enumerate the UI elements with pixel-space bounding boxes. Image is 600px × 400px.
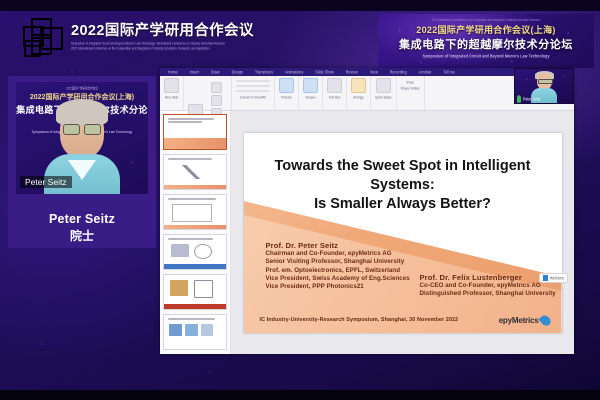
shared-screen-powerpoint[interactable]: Home Insert Draw Design Transitions Anim… xyxy=(160,68,574,354)
tab-recording[interactable]: Recording xyxy=(390,69,407,74)
author-right-line-2: Distinguished Professor, Shanghai Univer… xyxy=(420,290,556,298)
current-slide[interactable]: Towards the Sweet Spot in Intelligent Sy… xyxy=(244,133,562,333)
author-left-line-2: Senior Visiting Professor, Shanghai Univ… xyxy=(266,258,410,266)
ribbon-group-arrange[interactable]: Arrange xyxy=(347,76,371,110)
author-right-name: Prof. Dr. Felix Lustenberger xyxy=(420,273,556,282)
tab-view[interactable]: View xyxy=(370,69,378,74)
tab-insert[interactable]: Insert xyxy=(190,69,199,74)
tab-slide-show[interactable]: Slide Show xyxy=(315,69,333,74)
tab-tell-me[interactable]: Tell me xyxy=(443,69,455,74)
alignment-controls-row[interactable] xyxy=(236,90,270,92)
speaker-caption-name: Peter Seitz xyxy=(8,212,156,226)
text-box-icon[interactable] xyxy=(327,78,342,93)
slide-title: Towards the Sweet Spot in Intelligent Sy… xyxy=(244,157,562,214)
pip-eyeglasses-icon xyxy=(538,79,553,84)
ribbon-group-slides[interactable]: Layout xyxy=(184,76,232,110)
bottom-letterbox-bar xyxy=(0,390,600,400)
ribbon-label-quick-styles: Quick Styles xyxy=(375,94,392,99)
arrange-icon[interactable] xyxy=(351,78,366,93)
tab-design[interactable]: Design xyxy=(232,69,243,74)
slide-title-line-1: Towards the Sweet Spot in Intelligent Sy… xyxy=(256,157,550,195)
powerpoint-ribbon[interactable]: New Slide Layout Convert to SmartArt xyxy=(160,76,574,111)
tab-animations[interactable]: Animations xyxy=(285,69,303,74)
slide-thumbnail-5[interactable] xyxy=(163,274,227,310)
slide-editor-canvas[interactable]: Towards the Sweet Spot in Intelligent Sy… xyxy=(231,111,574,354)
slide-thumbnail-1[interactable] xyxy=(163,114,227,150)
author-left-line-1: Chairman and Co-Founder, epyMetrics AG xyxy=(266,250,410,258)
ribbon-group-shapes[interactable]: Shapes xyxy=(299,76,323,110)
ribbon-label-convert: Convert to SmartArt xyxy=(240,94,267,99)
author-left-name: Prof. Dr. Peter Seitz xyxy=(266,241,410,250)
slide-thumbnail-4[interactable] xyxy=(163,234,227,270)
tab-transitions[interactable]: Transitions xyxy=(255,69,273,74)
video-banner-tiny: 2022国际产学研用合作会议 xyxy=(16,85,148,90)
microphone-icon xyxy=(517,95,521,103)
tab-home[interactable]: Home xyxy=(168,69,178,74)
conference-title-en-1: Symposium of Integrated Circuit and Beyo… xyxy=(71,42,254,47)
pictures-icon[interactable] xyxy=(279,78,294,93)
ribbon-label-share[interactable]: Share xyxy=(406,79,414,84)
epymetrics-logo-text: epyMetrics xyxy=(499,316,539,325)
font-controls-row[interactable] xyxy=(236,80,270,82)
chat-notification-chip[interactable]: Welcome xyxy=(539,273,568,283)
ribbon-label-pictures: Pictures xyxy=(281,94,292,99)
ribbon-label-shape-outline[interactable]: Shape Outline xyxy=(401,85,420,90)
speaker-caption-title: 院士 xyxy=(8,227,156,244)
ribbon-group-pictures[interactable]: Pictures xyxy=(275,76,299,110)
author-left-line-4: Vice President, Swiss Academy of Eng.Sci… xyxy=(266,275,410,283)
slide-title-line-2: Is Smaller Always Better? xyxy=(256,195,550,214)
tab-draw[interactable]: Draw xyxy=(211,69,220,74)
author-left-line-3: Prof. em. Optoelectronics, EPFL, Switzer… xyxy=(266,267,410,275)
forum-banner: 2022 International Conference on the Coo… xyxy=(378,14,594,68)
overlapping-squares-logo-icon xyxy=(22,16,64,58)
chat-chip-label: Welcome xyxy=(550,275,564,280)
ribbon-label-shapes: Shapes xyxy=(305,94,315,99)
powerpoint-ribbon-tabs[interactable]: Home Insert Draw Design Transitions Anim… xyxy=(160,68,574,76)
banner-subtitle-en-top: 2022 International Conference on the Coo… xyxy=(378,19,594,23)
conference-logo-lockup: 2022国际产学研用合作会议 Symposium of Integrated C… xyxy=(22,16,254,58)
conference-stream-screenshot: 2022国际产学研用合作会议 Symposium of Integrated C… xyxy=(0,0,600,400)
layout-icon[interactable] xyxy=(211,82,222,93)
ribbon-label-arrange: Arrange xyxy=(353,94,364,99)
banner-line-2: 集成电路下的超越摩尔技术分论坛 xyxy=(378,36,594,52)
author-left-line-5: Vice President, PPP Photonics21 xyxy=(266,283,410,291)
eyeglasses-icon xyxy=(63,124,101,133)
ribbon-label-paste: New Slide xyxy=(165,94,179,99)
shapes-icon[interactable] xyxy=(303,78,318,93)
slide-thumbnail-2[interactable] xyxy=(163,154,227,190)
tab-review[interactable]: Review xyxy=(346,69,358,74)
ribbon-group-share[interactable]: Share Shape Outline xyxy=(397,76,425,110)
conference-title-en-2: 2022 International Conference on the Coo… xyxy=(71,47,254,52)
ribbon-group-font-paragraph[interactable]: Convert to SmartArt xyxy=(232,76,275,110)
ribbon-group-clipboard[interactable]: New Slide xyxy=(160,76,184,110)
video-name-overlay: Peter Seitz xyxy=(20,176,72,188)
reset-icon[interactable] xyxy=(211,95,222,106)
tab-acrobat[interactable]: Acrobat xyxy=(419,69,432,74)
ribbon-group-quick-styles[interactable]: Quick Styles xyxy=(371,76,397,110)
slide-thumbnail-6[interactable] xyxy=(163,314,227,350)
powerpoint-body: Towards the Sweet Spot in Intelligent Sy… xyxy=(160,111,574,354)
banner-line-3-en: Symposium of Integrated Circuit and Beyo… xyxy=(378,54,594,59)
ribbon-group-textbox[interactable]: Text Box xyxy=(323,76,347,110)
speaker-caption: Peter Seitz 院士 xyxy=(8,212,156,244)
speaker-video-tile[interactable]: 2022国际产学研用合作会议 2022国际产学研用合作会议(上海) 集成电路下的… xyxy=(8,76,156,248)
paragraph-controls-row[interactable] xyxy=(236,85,270,87)
paste-icon[interactable] xyxy=(164,78,179,93)
chat-icon xyxy=(543,275,548,281)
conference-title-zh: 2022国际产学研用合作会议 xyxy=(71,23,254,40)
author-right-line-1: Co-CEO and Co-Founder, epyMetrics AG xyxy=(420,282,556,290)
picture-in-picture-speaker-tile[interactable]: Peter Seitz xyxy=(514,68,574,104)
ribbon-label-textbox: Text Box xyxy=(329,94,341,99)
speaker-video-feed[interactable]: 2022国际产学研用合作会议 2022国际产学研用合作会议(上海) 集成电路下的… xyxy=(16,82,148,194)
epymetrics-logo: epyMetrics xyxy=(499,315,550,326)
slide-footer: IC Industry-University-Research Symposiu… xyxy=(260,317,459,323)
author-block-right: Prof. Dr. Felix Lustenberger Co-CEO and … xyxy=(420,273,556,299)
slide-thumbnail-3[interactable] xyxy=(163,194,227,230)
quick-styles-icon[interactable] xyxy=(376,78,391,93)
banner-line-1: 2022国际产学研用合作会议(上海) xyxy=(378,23,594,36)
top-letterbox-bar xyxy=(0,0,600,11)
author-block-left: Prof. Dr. Peter Seitz Chairman and Co-Fo… xyxy=(266,241,410,291)
pip-name-row: Peter Seitz xyxy=(517,96,541,102)
pip-name-label: Peter Seitz xyxy=(523,97,541,102)
slide-thumbnail-panel[interactable] xyxy=(160,111,231,354)
